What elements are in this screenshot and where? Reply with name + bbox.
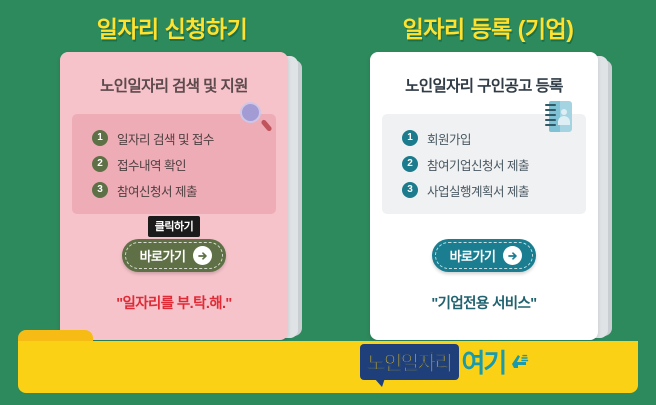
card-quote-register: "기업전용 서비스" — [370, 292, 598, 313]
step-label: 일자리 검색 및 접수 — [117, 129, 214, 148]
goto-button-apply[interactable]: 바로가기 — [122, 239, 227, 272]
card-title-register: 노인일자리 구인공고 등록 — [370, 74, 598, 96]
poster-canvas: 일자리 신청하기 노인일자리 검색 및 지원 1 일자리 검색 및 접수 2 접… — [0, 0, 656, 405]
contact-book-icon — [545, 101, 572, 132]
card-quote-apply: "일자리를 부.탁.해." — [60, 292, 288, 313]
card-stack-apply: 노인일자리 검색 및 지원 1 일자리 검색 및 접수 2 접수내역 확인 3 … — [60, 52, 304, 342]
column-heading-register: 일자리 등록 (기업) — [338, 10, 638, 44]
step-item: 3 사업실행계획서 제출 — [382, 177, 586, 203]
click-hint-row: 클릭하기 — [60, 216, 288, 233]
step-number: 3 — [92, 182, 108, 198]
card-stack-register: 노인일자리 구인공고 등록 1 회원가입 2 참여기업신청서 제출 — [370, 52, 614, 342]
step-item: 3 참여신청서 제출 — [72, 177, 276, 203]
step-number: 1 — [92, 130, 108, 146]
logo-word-text: 여기 — [462, 343, 506, 380]
yellow-footer-bar — [18, 341, 638, 393]
cta-row-apply: 바로가기 — [60, 239, 288, 272]
goto-button-label: 바로가기 — [450, 246, 496, 265]
step-number: 2 — [402, 156, 418, 172]
click-hint-badge: 클릭하기 — [148, 216, 200, 237]
step-label: 회원가입 — [427, 129, 471, 148]
column-heading-apply: 일자리 신청하기 — [22, 10, 322, 44]
logo-bubble-text: 노인일자리 — [360, 344, 459, 380]
brand-logo[interactable]: 노인일자리 여기 — [360, 343, 532, 380]
card-title-apply: 노인일자리 검색 및 지원 — [60, 74, 288, 96]
cta-row-register: 바로가기 — [370, 239, 598, 272]
steps-panel-register: 1 회원가입 2 참여기업신청서 제출 3 사업실행계획서 제출 — [382, 114, 586, 214]
step-number: 1 — [402, 130, 418, 146]
step-label: 사업실행계획서 제출 — [427, 181, 529, 200]
goto-button-register[interactable]: 바로가기 — [432, 239, 537, 272]
step-label: 참여기업신청서 제출 — [427, 155, 529, 174]
step-number: 3 — [402, 182, 418, 198]
steps-panel-apply: 1 일자리 검색 및 접수 2 접수내역 확인 3 참여신청서 제출 — [72, 114, 276, 214]
arrow-right-icon — [193, 246, 212, 265]
arrow-right-icon — [503, 246, 522, 265]
step-item: 2 참여기업신청서 제출 — [382, 151, 586, 177]
step-label: 접수내역 확인 — [117, 155, 186, 174]
step-label: 참여신청서 제출 — [117, 181, 197, 200]
goto-button-label: 바로가기 — [140, 246, 186, 265]
step-number: 2 — [92, 156, 108, 172]
card-apply[interactable]: 노인일자리 검색 및 지원 1 일자리 검색 및 접수 2 접수내역 확인 3 … — [60, 52, 288, 340]
pointing-hand-icon — [506, 349, 532, 375]
step-item: 2 접수내역 확인 — [72, 151, 276, 177]
magnifier-icon — [240, 102, 270, 132]
card-register[interactable]: 노인일자리 구인공고 등록 1 회원가입 2 참여기업신청서 제출 — [370, 52, 598, 340]
